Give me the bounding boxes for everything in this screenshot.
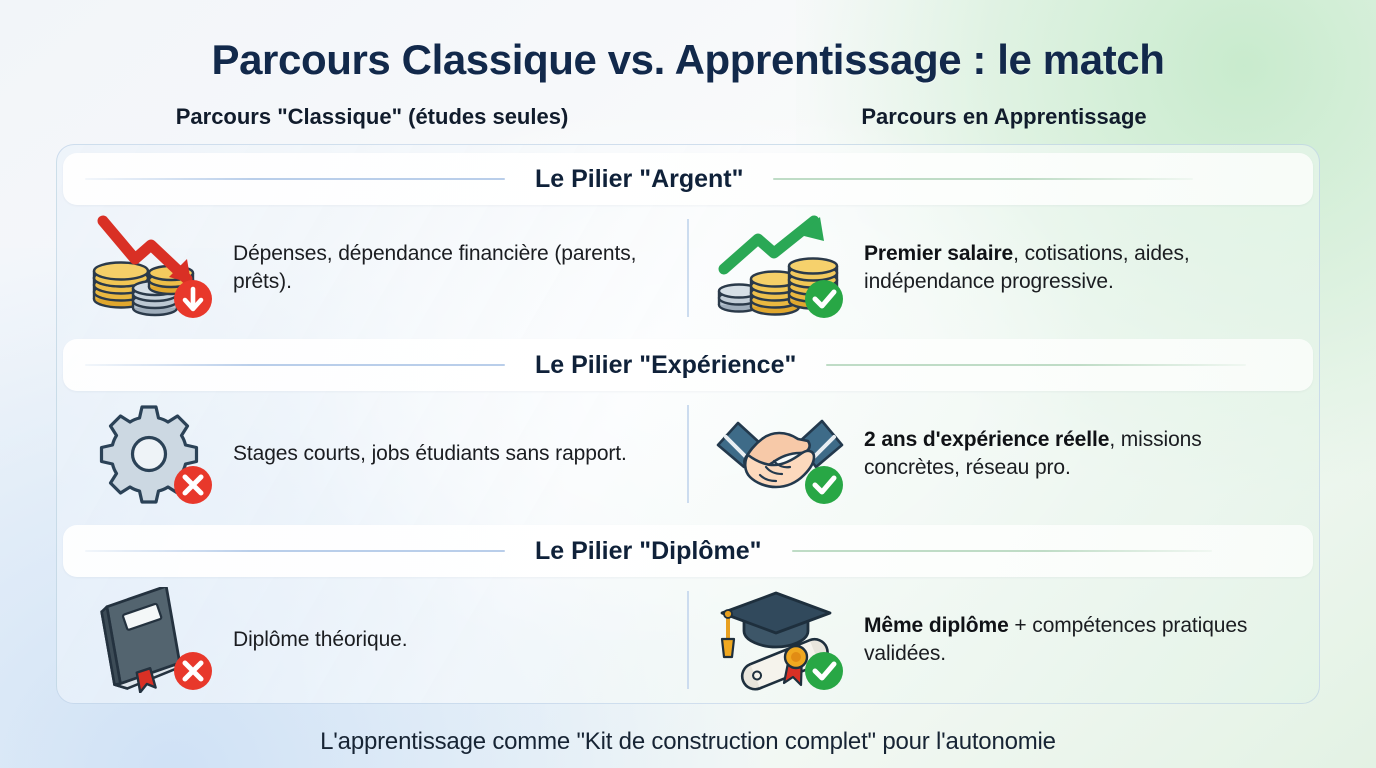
gear-icon [83, 401, 215, 507]
row-argent-right-text: Premier salaire, cotisations, aides, ind… [864, 240, 1293, 295]
row-experience-right-text-bold: 2 ans d'expérience réelle [864, 428, 1109, 451]
pillar-rule-right [773, 178, 1193, 180]
infographic-page: Parcours Classique vs. Apprentissage : l… [0, 0, 1376, 768]
row-argent-left-text: Dépenses, dépendance financière (parents… [233, 240, 662, 295]
pillar-rule-right [826, 364, 1246, 366]
row-argent-left: Dépenses, dépendance financière (parents… [57, 205, 688, 331]
row-diplome-right-text: Même diplôme + compétences pratiques val… [864, 612, 1293, 667]
row-experience-right: 2 ans d'expérience réelle, missions conc… [688, 391, 1319, 517]
pillar-title-diplome: Le Pilier "Diplôme" [505, 537, 792, 566]
comparison-row-experience: Stages courts, jobs étudiants sans rappo… [57, 391, 1319, 517]
row-experience-left: Stages courts, jobs étudiants sans rappo… [57, 391, 688, 517]
column-header-apprentissage: Parcours en Apprentissage [688, 104, 1320, 130]
comparison-board: Le Pilier "Argent" [56, 144, 1320, 704]
coins-up-arrow-icon [714, 215, 846, 321]
book-icon [83, 587, 215, 693]
row-argent-right-text-bold: Premier salaire [864, 242, 1013, 265]
pillar-header-diplome: Le Pilier "Diplôme" [63, 525, 1313, 577]
row-diplome-left-text: Diplôme théorique. [233, 626, 407, 654]
footer-tagline: L'apprentissage comme "Kit de constructi… [0, 728, 1376, 756]
handshake-icon [714, 401, 846, 507]
comparison-row-argent: Dépenses, dépendance financière (parents… [57, 205, 1319, 331]
graduation-cap-diploma-icon [714, 587, 846, 693]
row-experience-right-text: 2 ans d'expérience réelle, missions conc… [864, 426, 1293, 481]
pillar-header-experience: Le Pilier "Expérience" [63, 339, 1313, 391]
row-divider [687, 405, 689, 503]
coins-down-arrow-icon [83, 215, 215, 321]
page-title: Parcours Classique vs. Apprentissage : l… [0, 0, 1376, 84]
row-divider [687, 219, 689, 317]
row-divider [687, 591, 689, 689]
pillar-rule-right [792, 550, 1212, 552]
row-diplome-right: Même diplôme + compétences pratiques val… [688, 577, 1319, 703]
pillar-rule-left [85, 364, 505, 366]
row-experience-left-text: Stages courts, jobs étudiants sans rappo… [233, 440, 627, 468]
row-diplome-right-text-bold: Même diplôme [864, 614, 1009, 637]
column-headers: Parcours "Classique" (études seules) Par… [0, 104, 1376, 130]
comparison-row-diplome: Diplôme théorique. [57, 577, 1319, 703]
row-argent-right: Premier salaire, cotisations, aides, ind… [688, 205, 1319, 331]
pillar-rule-left [85, 178, 505, 180]
pillar-rule-left [85, 550, 505, 552]
pillar-header-argent: Le Pilier "Argent" [63, 153, 1313, 205]
row-diplome-left: Diplôme théorique. [57, 577, 688, 703]
pillar-title-experience: Le Pilier "Expérience" [505, 351, 826, 380]
pillar-title-argent: Le Pilier "Argent" [505, 165, 773, 194]
column-header-classique: Parcours "Classique" (études seules) [56, 104, 688, 130]
